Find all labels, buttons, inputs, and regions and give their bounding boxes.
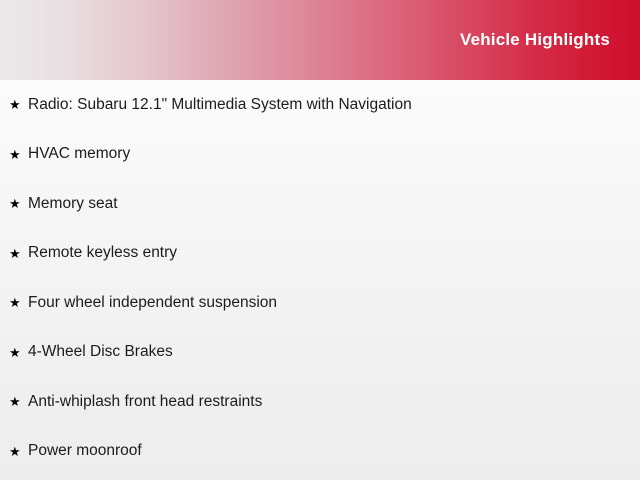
list-item: ★ Power moonroof [0,427,640,477]
star-bullet-icon: ★ [9,296,28,309]
star-bullet-icon: ★ [9,148,28,161]
vehicle-highlights-list: ★ Radio: Subaru 12.1" Multimedia System … [0,80,640,476]
star-bullet-icon: ★ [9,98,28,111]
page-title: Vehicle Highlights [460,30,610,50]
list-item: ★ 4-Wheel Disc Brakes [0,328,640,378]
list-item: ★ Remote keyless entry [0,229,640,279]
highlight-label: Power moonroof [28,441,142,461]
list-item: ★ Anti-whiplash front head restraints [0,377,640,427]
list-item: ★ Four wheel independent suspension [0,278,640,328]
highlight-label: Memory seat [28,194,118,214]
star-bullet-icon: ★ [9,346,28,359]
highlight-label: Anti-whiplash front head restraints [28,392,262,412]
list-item: ★ HVAC memory [0,130,640,180]
star-bullet-icon: ★ [9,445,28,458]
list-item: ★ Memory seat [0,179,640,229]
star-bullet-icon: ★ [9,197,28,210]
highlight-label: Four wheel independent suspension [28,293,277,313]
highlight-label: 4-Wheel Disc Brakes [28,342,173,362]
star-bullet-icon: ★ [9,247,28,260]
vehicle-highlights-panel: Vehicle Highlights ★ Radio: Subaru 12.1"… [0,0,640,480]
highlight-label: Radio: Subaru 12.1" Multimedia System wi… [28,95,412,115]
highlight-label: HVAC memory [28,144,130,164]
highlight-label: Remote keyless entry [28,243,177,263]
list-item: ★ Radio: Subaru 12.1" Multimedia System … [0,80,640,130]
star-bullet-icon: ★ [9,395,28,408]
header-banner: Vehicle Highlights [0,0,640,80]
